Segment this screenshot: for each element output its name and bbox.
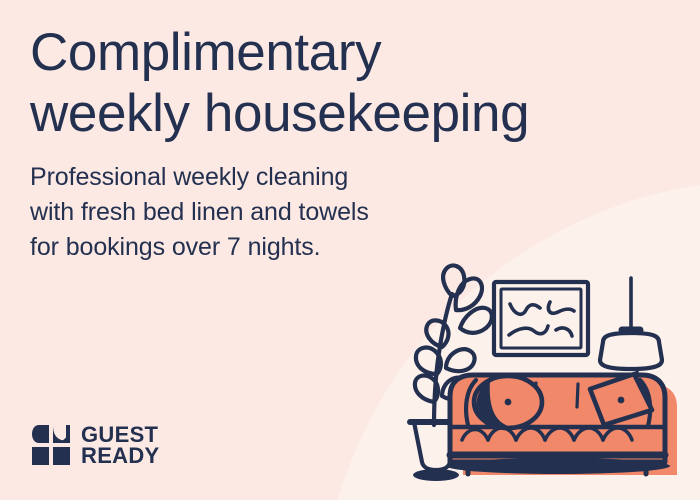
logo-wordmark: GUEST READY xyxy=(81,424,160,466)
description-text: Professional weekly cleaning with fresh … xyxy=(30,160,450,265)
brand-logo: GUEST READY xyxy=(31,424,160,466)
logo-line-2: READY xyxy=(81,445,160,466)
pendant-lamp xyxy=(600,278,662,387)
logo-line-1: GUEST xyxy=(81,424,160,445)
guestready-logo-mark xyxy=(31,424,71,466)
page-title: Complimentary weekly housekeeping xyxy=(30,22,650,144)
sofa xyxy=(446,374,677,475)
promo-banner: Complimentary weekly housekeeping Profes… xyxy=(0,0,700,500)
framed-artwork xyxy=(494,282,588,355)
living-room-illustration xyxy=(390,250,690,500)
